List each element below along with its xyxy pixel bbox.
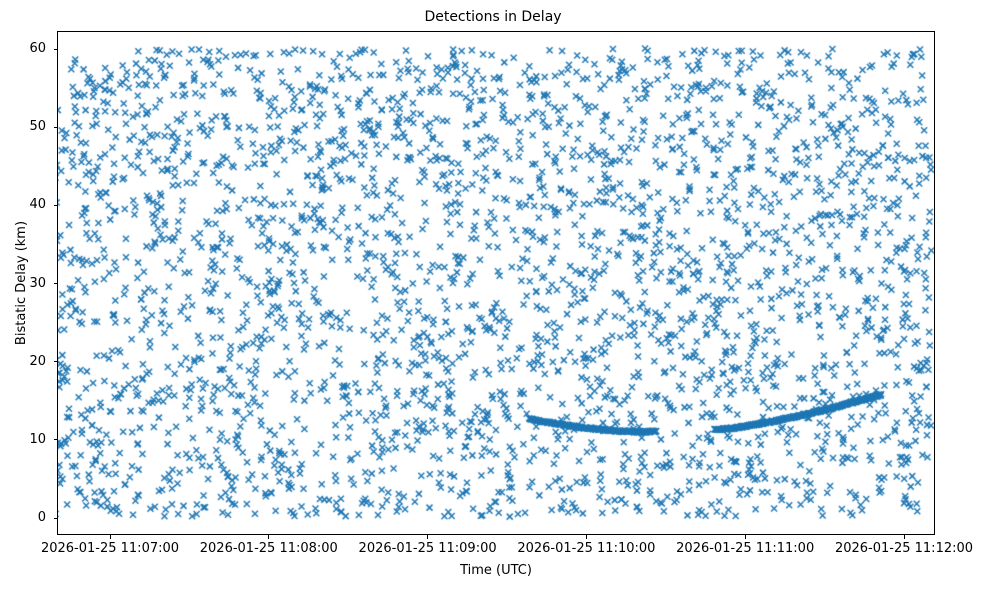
y-axis-tick-mark <box>54 518 58 519</box>
x-axis-tick-mark <box>110 535 111 539</box>
y-axis-tick-mark <box>54 439 58 440</box>
x-axis-tick-mark <box>268 535 269 539</box>
matplotlib-figure: Detections in Delay 0102030405060 2026-0… <box>0 0 986 590</box>
scatter-plot-canvas <box>58 32 935 535</box>
y-axis-tick-mark <box>54 361 58 362</box>
x-axis-tick-label: 2026-01-25 11:11:00 <box>676 541 814 556</box>
y-axis-tick-mark <box>54 283 58 284</box>
x-axis-tick-mark <box>745 535 746 539</box>
x-axis-label: Time (UTC) <box>57 563 935 578</box>
plot-axes-area <box>57 31 935 535</box>
x-axis-tick-mark <box>904 535 905 539</box>
x-axis-tick-label: 2026-01-25 11:08:00 <box>200 541 338 556</box>
x-axis-tick-mark <box>427 535 428 539</box>
x-axis-tick-label: 2026-01-25 11:12:00 <box>835 541 973 556</box>
chart-title: Detections in Delay <box>0 8 986 26</box>
x-axis-tick-mark <box>586 535 587 539</box>
x-axis-tick-label: 2026-01-25 11:09:00 <box>359 541 497 556</box>
x-axis-tick-label: 2026-01-25 11:10:00 <box>517 541 655 556</box>
y-axis-tick-mark <box>54 127 58 128</box>
y-axis-label: Bistatic Delay (km) <box>14 31 29 535</box>
x-axis-tick-label: 2026-01-25 11:07:00 <box>41 541 179 556</box>
y-axis-tick-mark <box>54 205 58 206</box>
y-axis-tick-mark <box>54 49 58 50</box>
